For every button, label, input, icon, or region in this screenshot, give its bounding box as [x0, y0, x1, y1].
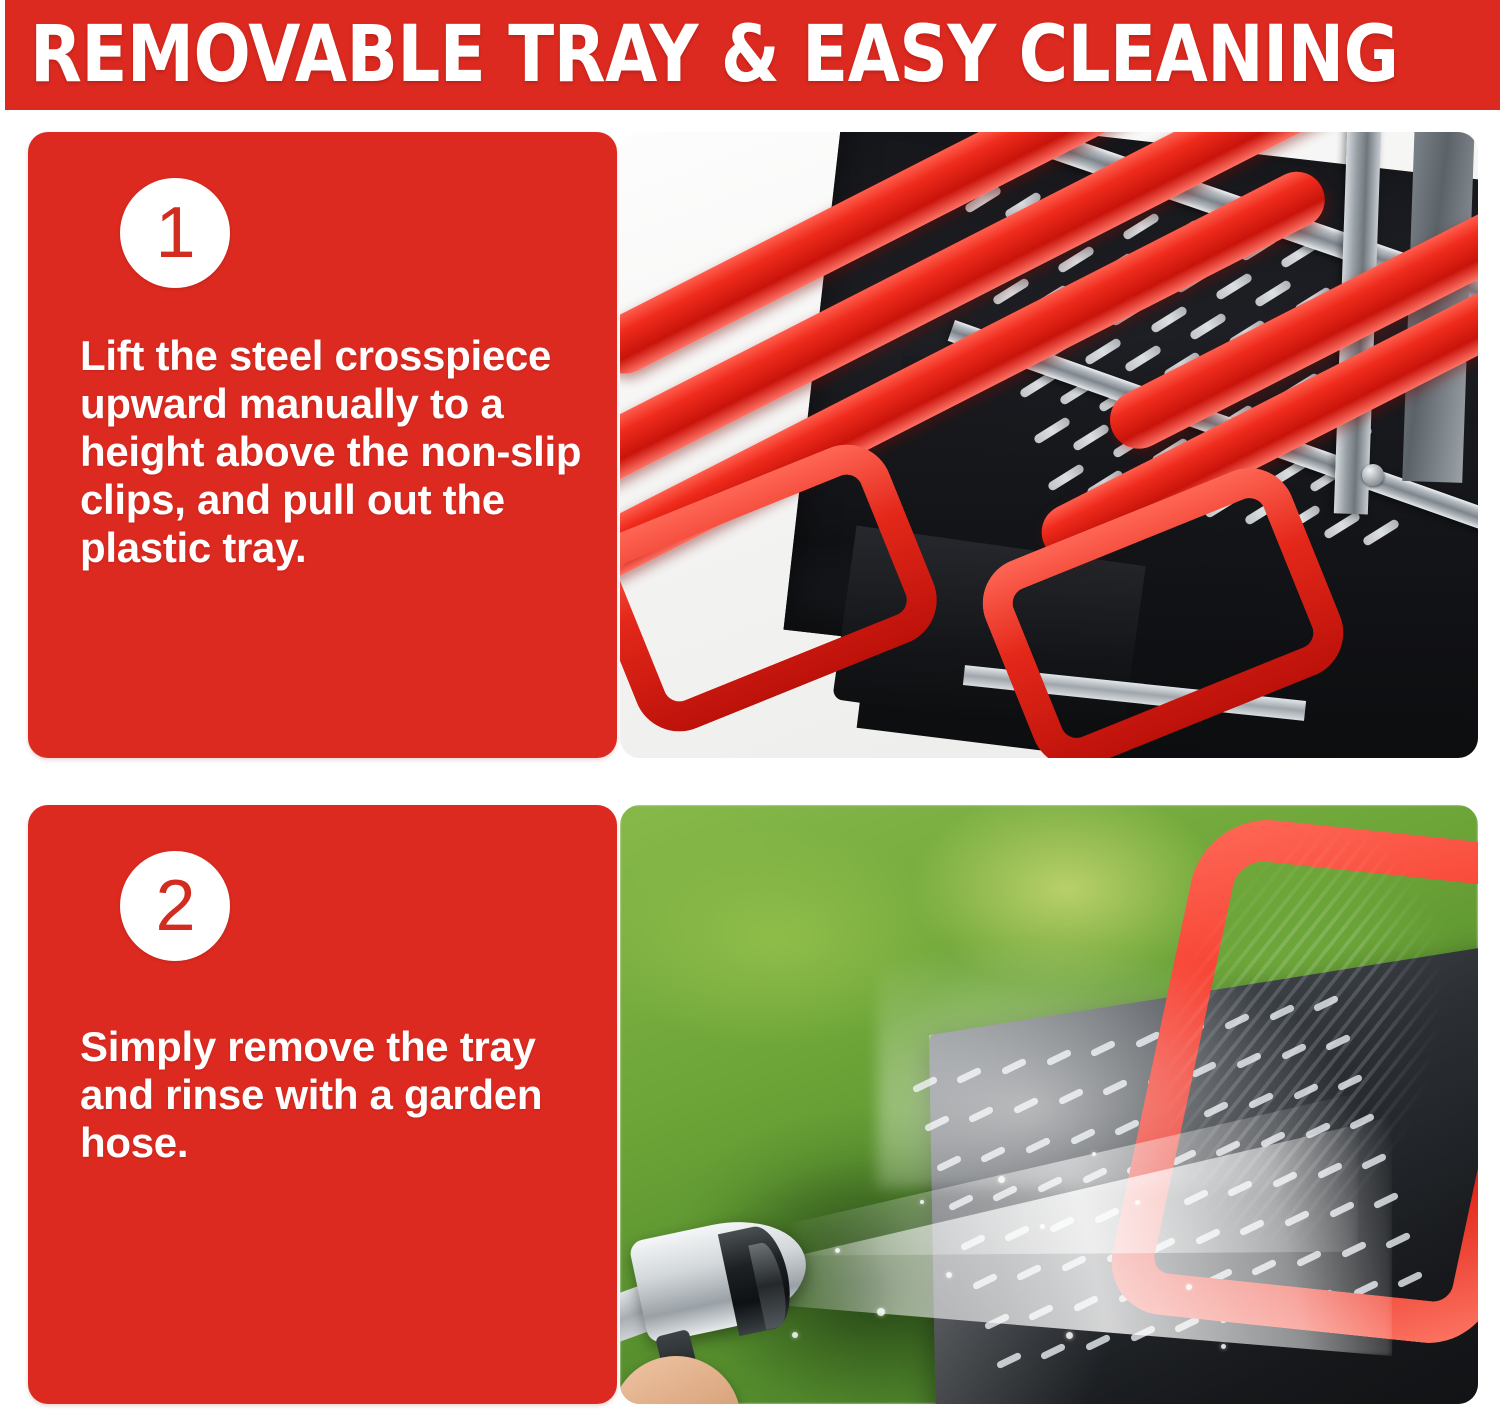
header-banner: REMOVABLE TRAY & EASY CLEANING: [5, 0, 1500, 110]
perforation-slot: [1123, 344, 1162, 373]
photo1-screw: [1362, 464, 1384, 486]
water-droplet: [1221, 1344, 1226, 1349]
perforation-slot: [1214, 272, 1253, 301]
water-droplet: [877, 1308, 885, 1316]
water-droplet: [1040, 1224, 1045, 1229]
step-photo-2: [620, 805, 1478, 1404]
step-description-2: Simply remove the tray and rinse with a …: [80, 1023, 583, 1167]
step-row-1: 1 Lift the steel crosspiece upward manua…: [28, 132, 1478, 758]
perforation-slot: [1084, 337, 1123, 366]
perforation-slot: [1322, 511, 1361, 540]
perforation-slot: [1149, 305, 1188, 334]
water-droplet: [1186, 1284, 1192, 1290]
perforation-slot: [1032, 416, 1071, 445]
water-droplet: [920, 1200, 924, 1204]
step-card-2: 2 Simply remove the tray and rinse with …: [28, 805, 617, 1404]
perforation-slot: [1189, 312, 1228, 341]
water-droplet: [792, 1332, 798, 1338]
perforation-slot: [1362, 518, 1401, 547]
step-number-2: 2: [155, 870, 194, 942]
step-number-badge-2: 2: [120, 851, 230, 961]
water-droplet: [1092, 1152, 1096, 1156]
water-droplet: [946, 1272, 952, 1278]
step-number-1: 1: [155, 197, 194, 269]
step-row-2: 2 Simply remove the tray and rinse with …: [28, 805, 1478, 1404]
water-droplet: [1066, 1332, 1073, 1339]
water-droplet: [1135, 1200, 1140, 1205]
water-droplet: [998, 1176, 1005, 1183]
water-droplet: [835, 1248, 840, 1253]
perforation-slot: [1254, 279, 1293, 308]
perforation-slot: [1072, 423, 1111, 452]
page-title: REMOVABLE TRAY & EASY CLEANING: [5, 16, 1398, 94]
step-description-1: Lift the steel crosspiece upward manuall…: [80, 332, 583, 572]
infographic-page: REMOVABLE TRAY & EASY CLEANING 1 Lift th…: [0, 0, 1500, 1411]
step-number-badge-1: 1: [120, 178, 230, 288]
step-card-1: 1 Lift the steel crosspiece upward manua…: [28, 132, 617, 758]
step-photo-1: [620, 132, 1478, 758]
photo2-water-droplets: [620, 805, 1478, 1404]
perforation-slot: [1046, 463, 1085, 492]
